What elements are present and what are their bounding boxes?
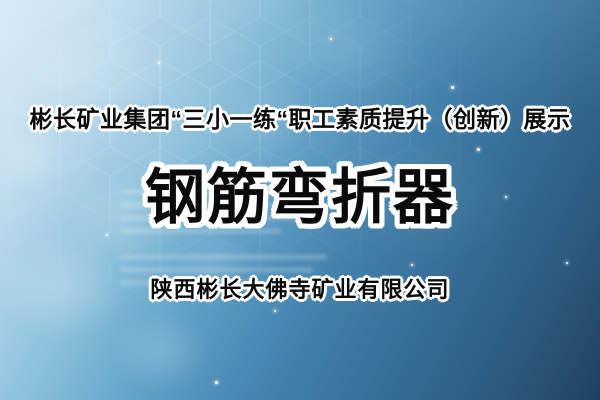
slide-text-content: 彬长矿业集团“三小一练“职工素质提升（创新）展示 钢筋弯折器 陕西彬长大佛寺矿业… — [0, 0, 600, 400]
event-header-line: 彬长矿业集团“三小一练“职工素质提升（创新）展示 — [0, 108, 600, 131]
page-title: 钢筋弯折器 — [0, 168, 600, 228]
title-card-slide: 彬长矿业集团“三小一练“职工素质提升（创新）展示 钢筋弯折器 陕西彬长大佛寺矿业… — [0, 0, 600, 400]
company-name-line: 陕西彬长大佛寺矿业有限公司 — [0, 279, 600, 301]
